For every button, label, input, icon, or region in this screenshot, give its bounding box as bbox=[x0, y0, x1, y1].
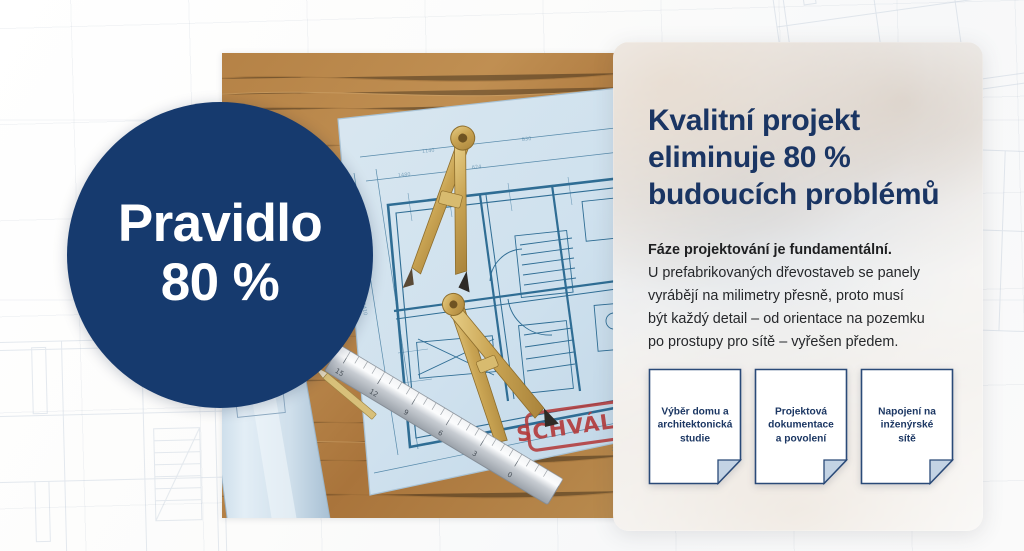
step-card-1-line-2: architektonická bbox=[658, 420, 733, 431]
headline-line-2: eliminuje 80 % bbox=[648, 139, 953, 176]
headline-line-3: budoucích problémů bbox=[648, 176, 953, 213]
step-card-3-label: Napojení na inženýrské sítě bbox=[860, 405, 954, 446]
step-card-2-line-2: dokumentace bbox=[768, 420, 834, 431]
body-line-1: U prefabrikovaných dřevostaveb se panely bbox=[648, 262, 953, 285]
step-card-1-line-1: Výběr domu a bbox=[661, 406, 728, 417]
panel-headline: Kvalitní projekt eliminuje 80 % budoucíc… bbox=[648, 102, 953, 214]
step-card-2[interactable]: Projektová dokumentace a povolení bbox=[754, 368, 848, 485]
step-card-3-line-1: Napojení na bbox=[878, 406, 936, 417]
step-card-2-line-3: a povolení bbox=[776, 434, 826, 445]
slide-canvas: 1140 830 1480 624 1410 2010 1150 2240 SC… bbox=[0, 0, 1024, 551]
step-card-1-label: Výběr domu a architektonická studie bbox=[648, 405, 742, 446]
rule-badge: Pravidlo 80 % bbox=[67, 102, 373, 408]
body-line-3: být každý detail – od orientace na pozem… bbox=[648, 308, 953, 331]
body-line-4: po prostupy pro sítě – vyřešen předem. bbox=[648, 331, 953, 354]
svg-text:624: 624 bbox=[472, 164, 482, 171]
headline-line-1: Kvalitní projekt bbox=[648, 102, 953, 139]
panel-lead-text: Fáze projektování je fundamentální. bbox=[648, 240, 953, 262]
step-card-1-line-3: studie bbox=[680, 434, 710, 445]
step-card-3[interactable]: Napojení na inženýrské sítě bbox=[860, 368, 954, 485]
step-card-list: Výběr domu a architektonická studie Proj… bbox=[648, 368, 954, 488]
step-card-2-line-1: Projektová bbox=[775, 406, 827, 417]
panel-body-text: U prefabrikovaných dřevostaveb se panely… bbox=[648, 262, 953, 353]
svg-text:830: 830 bbox=[522, 136, 532, 143]
step-card-1[interactable]: Výběr domu a architektonická studie bbox=[648, 368, 742, 485]
body-line-2: vyrábějí na milimetry přesně, proto musí bbox=[648, 285, 953, 308]
badge-line-2: 80 % bbox=[161, 253, 279, 312]
step-card-2-label: Projektová dokumentace a povolení bbox=[754, 405, 848, 446]
info-panel: Kvalitní projekt eliminuje 80 % budoucíc… bbox=[613, 42, 983, 531]
step-card-3-line-2: inženýrské bbox=[881, 420, 934, 431]
badge-line-1: Pravidlo bbox=[118, 197, 322, 251]
panel-content: Kvalitní projekt eliminuje 80 % budoucíc… bbox=[613, 42, 983, 531]
step-card-3-line-3: sítě bbox=[898, 434, 916, 445]
